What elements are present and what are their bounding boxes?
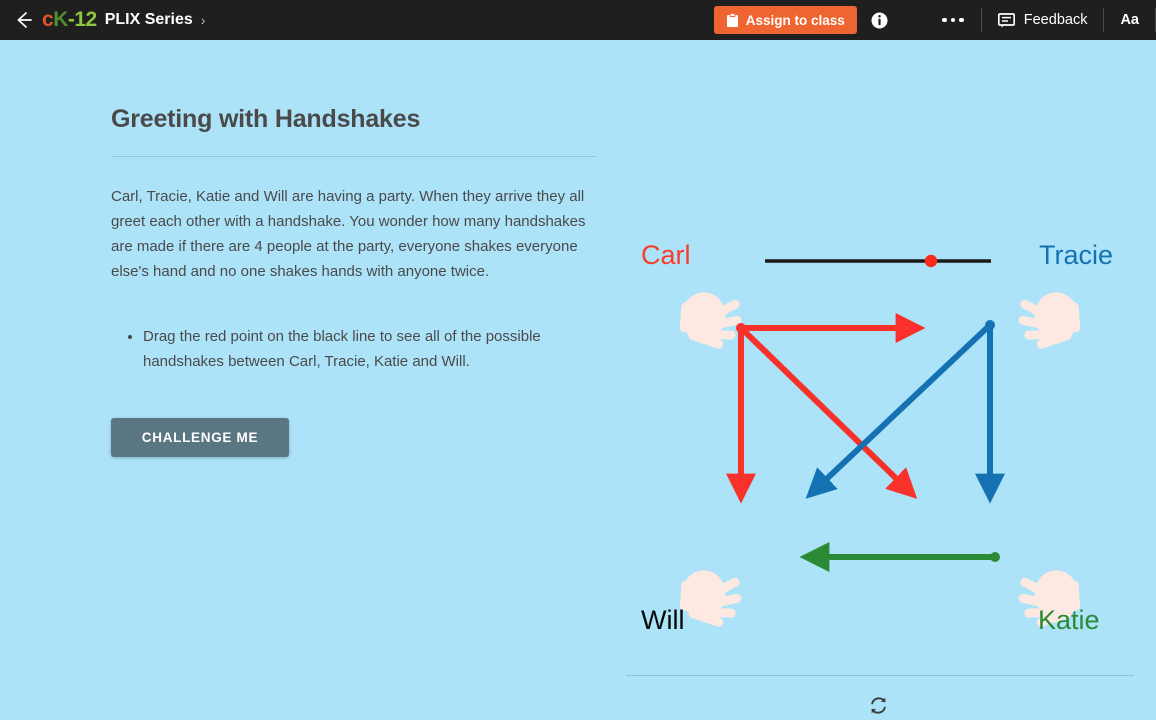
hand-will-icon <box>674 565 748 631</box>
more-dots-icon[interactable] <box>925 0 981 40</box>
arrow-katie-will <box>815 552 1000 562</box>
slider-handle[interactable] <box>925 255 937 267</box>
text-size-button[interactable]: Aa <box>1104 0 1155 40</box>
person-label-tracie: Tracie <box>1039 240 1113 271</box>
lesson-paragraph: Carl, Tracie, Katie and Will are having … <box>111 184 594 284</box>
person-label-carl: Carl <box>641 240 691 271</box>
info-icon[interactable] <box>857 0 903 40</box>
more-dots-glyph <box>942 18 964 23</box>
list-item: Drag the red point on the black line to … <box>143 324 595 374</box>
arrow-carl-katie <box>741 328 906 488</box>
back-arrow-icon[interactable] <box>10 7 36 33</box>
logo-part-k: K <box>53 8 68 32</box>
top-bar: cK-12 PLIX Series › Assign to class <box>0 0 1156 40</box>
clipboard-icon <box>726 13 739 28</box>
arrow-carl-tracie <box>736 323 910 333</box>
feedback-label: Feedback <box>1024 12 1088 28</box>
title-divider <box>111 156 596 157</box>
challenge-me-button[interactable]: CHALLENGE ME <box>111 418 289 457</box>
hand-carl-icon <box>674 287 748 353</box>
assign-to-class-button[interactable]: Assign to class <box>714 6 857 34</box>
lesson-panel: Greeting with Handshakes Carl, Tracie, K… <box>111 105 611 457</box>
handshake-simulation: Carl Tracie Will Katie <box>610 150 1150 695</box>
logo-part-c: c <box>42 8 53 32</box>
ck12-logo[interactable]: cK-12 <box>42 8 97 32</box>
comment-icon <box>998 13 1015 28</box>
simulation-divider <box>626 675 1134 676</box>
feedback-button[interactable]: Feedback <box>982 0 1104 40</box>
breadcrumb-chevron-icon: › <box>201 12 206 28</box>
handshake-slider[interactable] <box>765 255 991 267</box>
arrow-tracie-katie <box>985 320 995 488</box>
instructions-list: Drag the red point on the black line to … <box>129 324 595 374</box>
breadcrumb-plix-series[interactable]: PLIX Series <box>105 11 193 29</box>
assign-to-class-label: Assign to class <box>746 13 845 28</box>
logo-part-number: -12 <box>68 8 97 32</box>
arrow-tracie-will <box>817 325 990 488</box>
top-bar-actions: Assign to class <box>714 0 1156 40</box>
person-label-will: Will <box>641 605 684 636</box>
page-title: Greeting with Handshakes <box>111 105 611 134</box>
hand-tracie-icon <box>1013 287 1087 353</box>
person-label-katie: Katie <box>1038 605 1100 636</box>
content-stage: Greeting with Handshakes Carl, Tracie, K… <box>0 40 1156 695</box>
